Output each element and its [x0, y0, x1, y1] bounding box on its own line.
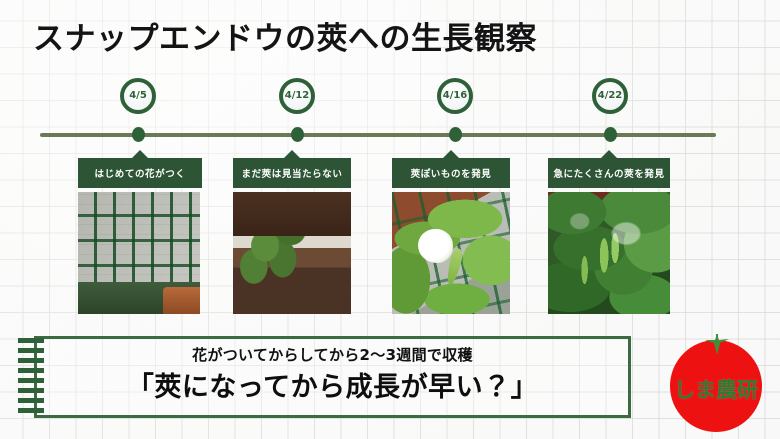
brand-name: しま農研	[664, 374, 768, 404]
timeline-date-marker-3[interactable]: 4/16	[437, 78, 473, 114]
photo-layer-p3-flower	[418, 229, 453, 263]
timeline-event-label-1: はじめての花がつく	[78, 158, 202, 188]
timeline-photo-3	[392, 192, 510, 314]
timeline-photo-4	[548, 192, 670, 314]
photo-layer-p1-pot2	[163, 287, 200, 314]
brand-logo: しま農研	[664, 328, 768, 432]
conclusion-subtitle: 花がついてからしてから2〜3週間で収穫	[34, 344, 631, 365]
timeline-photo-2	[233, 192, 351, 314]
page-title: スナップエンドウの莢への生長観察	[33, 13, 537, 58]
timeline-event-label-2: まだ莢は見当たらない	[233, 158, 351, 188]
timeline-dot-1	[132, 127, 145, 142]
timeline-date-label: 4/5	[129, 91, 147, 101]
timeline-event-label-3: 莢ぽいものを発見	[392, 158, 510, 188]
timeline-date-label: 4/12	[285, 91, 310, 101]
spiral-ring	[18, 338, 44, 343]
photo-layer-p2-soil	[233, 192, 351, 236]
conclusion-headline: 「莢になってから成長が早い？」	[34, 365, 631, 404]
timeline-dot-4	[604, 127, 617, 142]
timeline-date-marker-2[interactable]: 4/12	[279, 78, 315, 114]
timeline-dot-3	[449, 127, 462, 142]
timeline-event-label-4: 急にたくさんの莢を発見	[548, 158, 670, 188]
timeline-photo-1	[78, 192, 200, 314]
timeline-date-marker-4[interactable]: 4/22	[592, 78, 628, 114]
timeline-date-marker-1[interactable]: 4/5	[120, 78, 156, 114]
slide-canvas: スナップエンドウの莢への生長観察 4/5はじめての花がつく4/12まだ莢は見当た…	[0, 0, 780, 439]
timeline-date-label: 4/22	[598, 91, 623, 101]
timeline-date-label: 4/16	[443, 91, 468, 101]
spiral-ring	[18, 408, 44, 413]
photo-layer-p4-light	[548, 192, 670, 314]
timeline-dot-2	[291, 127, 304, 142]
tomato-calyx-icon	[704, 334, 730, 356]
